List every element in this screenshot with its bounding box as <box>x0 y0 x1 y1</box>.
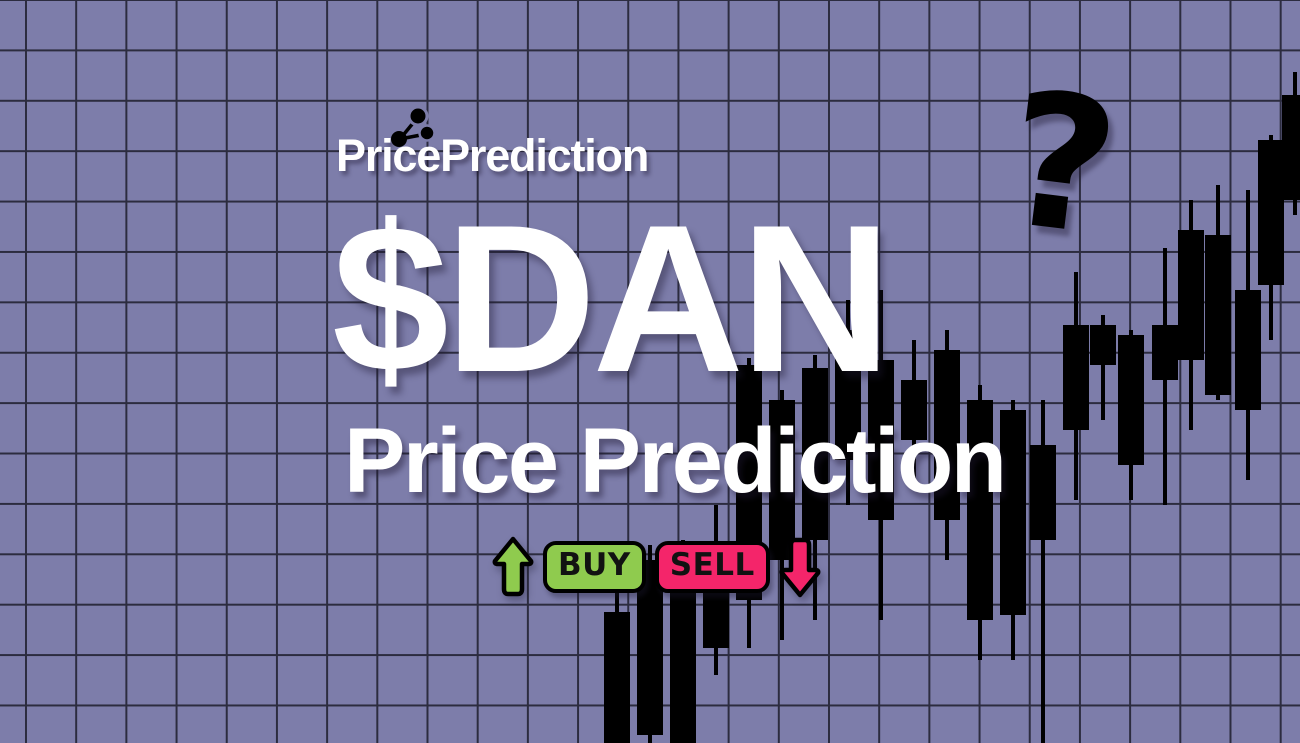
buy-button[interactable]: BUY <box>543 541 646 593</box>
arrow-down-icon <box>779 536 821 598</box>
candlestick <box>1205 0 1231 743</box>
candlestick <box>967 0 993 743</box>
candlestick-body <box>1063 325 1089 430</box>
candlestick <box>1282 0 1300 743</box>
brand-logo-text: PricePrediction <box>336 133 648 178</box>
promo-banner: ? PricePrediction $DAN Price Prediction … <box>0 0 1300 743</box>
question-mark-icon: ? <box>997 66 1126 263</box>
buy-sell-cta-row: BUY SELL <box>492 536 821 598</box>
arrow-up-icon <box>492 536 534 598</box>
network-nodes-icon <box>386 105 442 149</box>
candlestick-body <box>1178 230 1204 360</box>
page-subtitle: Price Prediction <box>344 415 1004 507</box>
candlestick-body <box>1118 335 1144 465</box>
candlestick-body <box>1258 140 1284 285</box>
candlestick <box>1152 0 1178 743</box>
page-title: $DAN <box>332 194 888 404</box>
candlestick <box>1258 0 1284 743</box>
candlestick-body <box>1030 445 1056 540</box>
candlestick <box>901 0 927 743</box>
candlestick-body <box>1282 95 1300 200</box>
candlestick-body <box>1152 325 1178 380</box>
brand-logo[interactable]: PricePrediction <box>336 133 648 178</box>
candlestick <box>1178 0 1204 743</box>
candlestick-body <box>1090 325 1116 365</box>
candlestick <box>934 0 960 743</box>
sell-button[interactable]: SELL <box>655 541 770 593</box>
candlestick-body <box>1205 235 1231 395</box>
candlestick-body <box>604 612 630 743</box>
